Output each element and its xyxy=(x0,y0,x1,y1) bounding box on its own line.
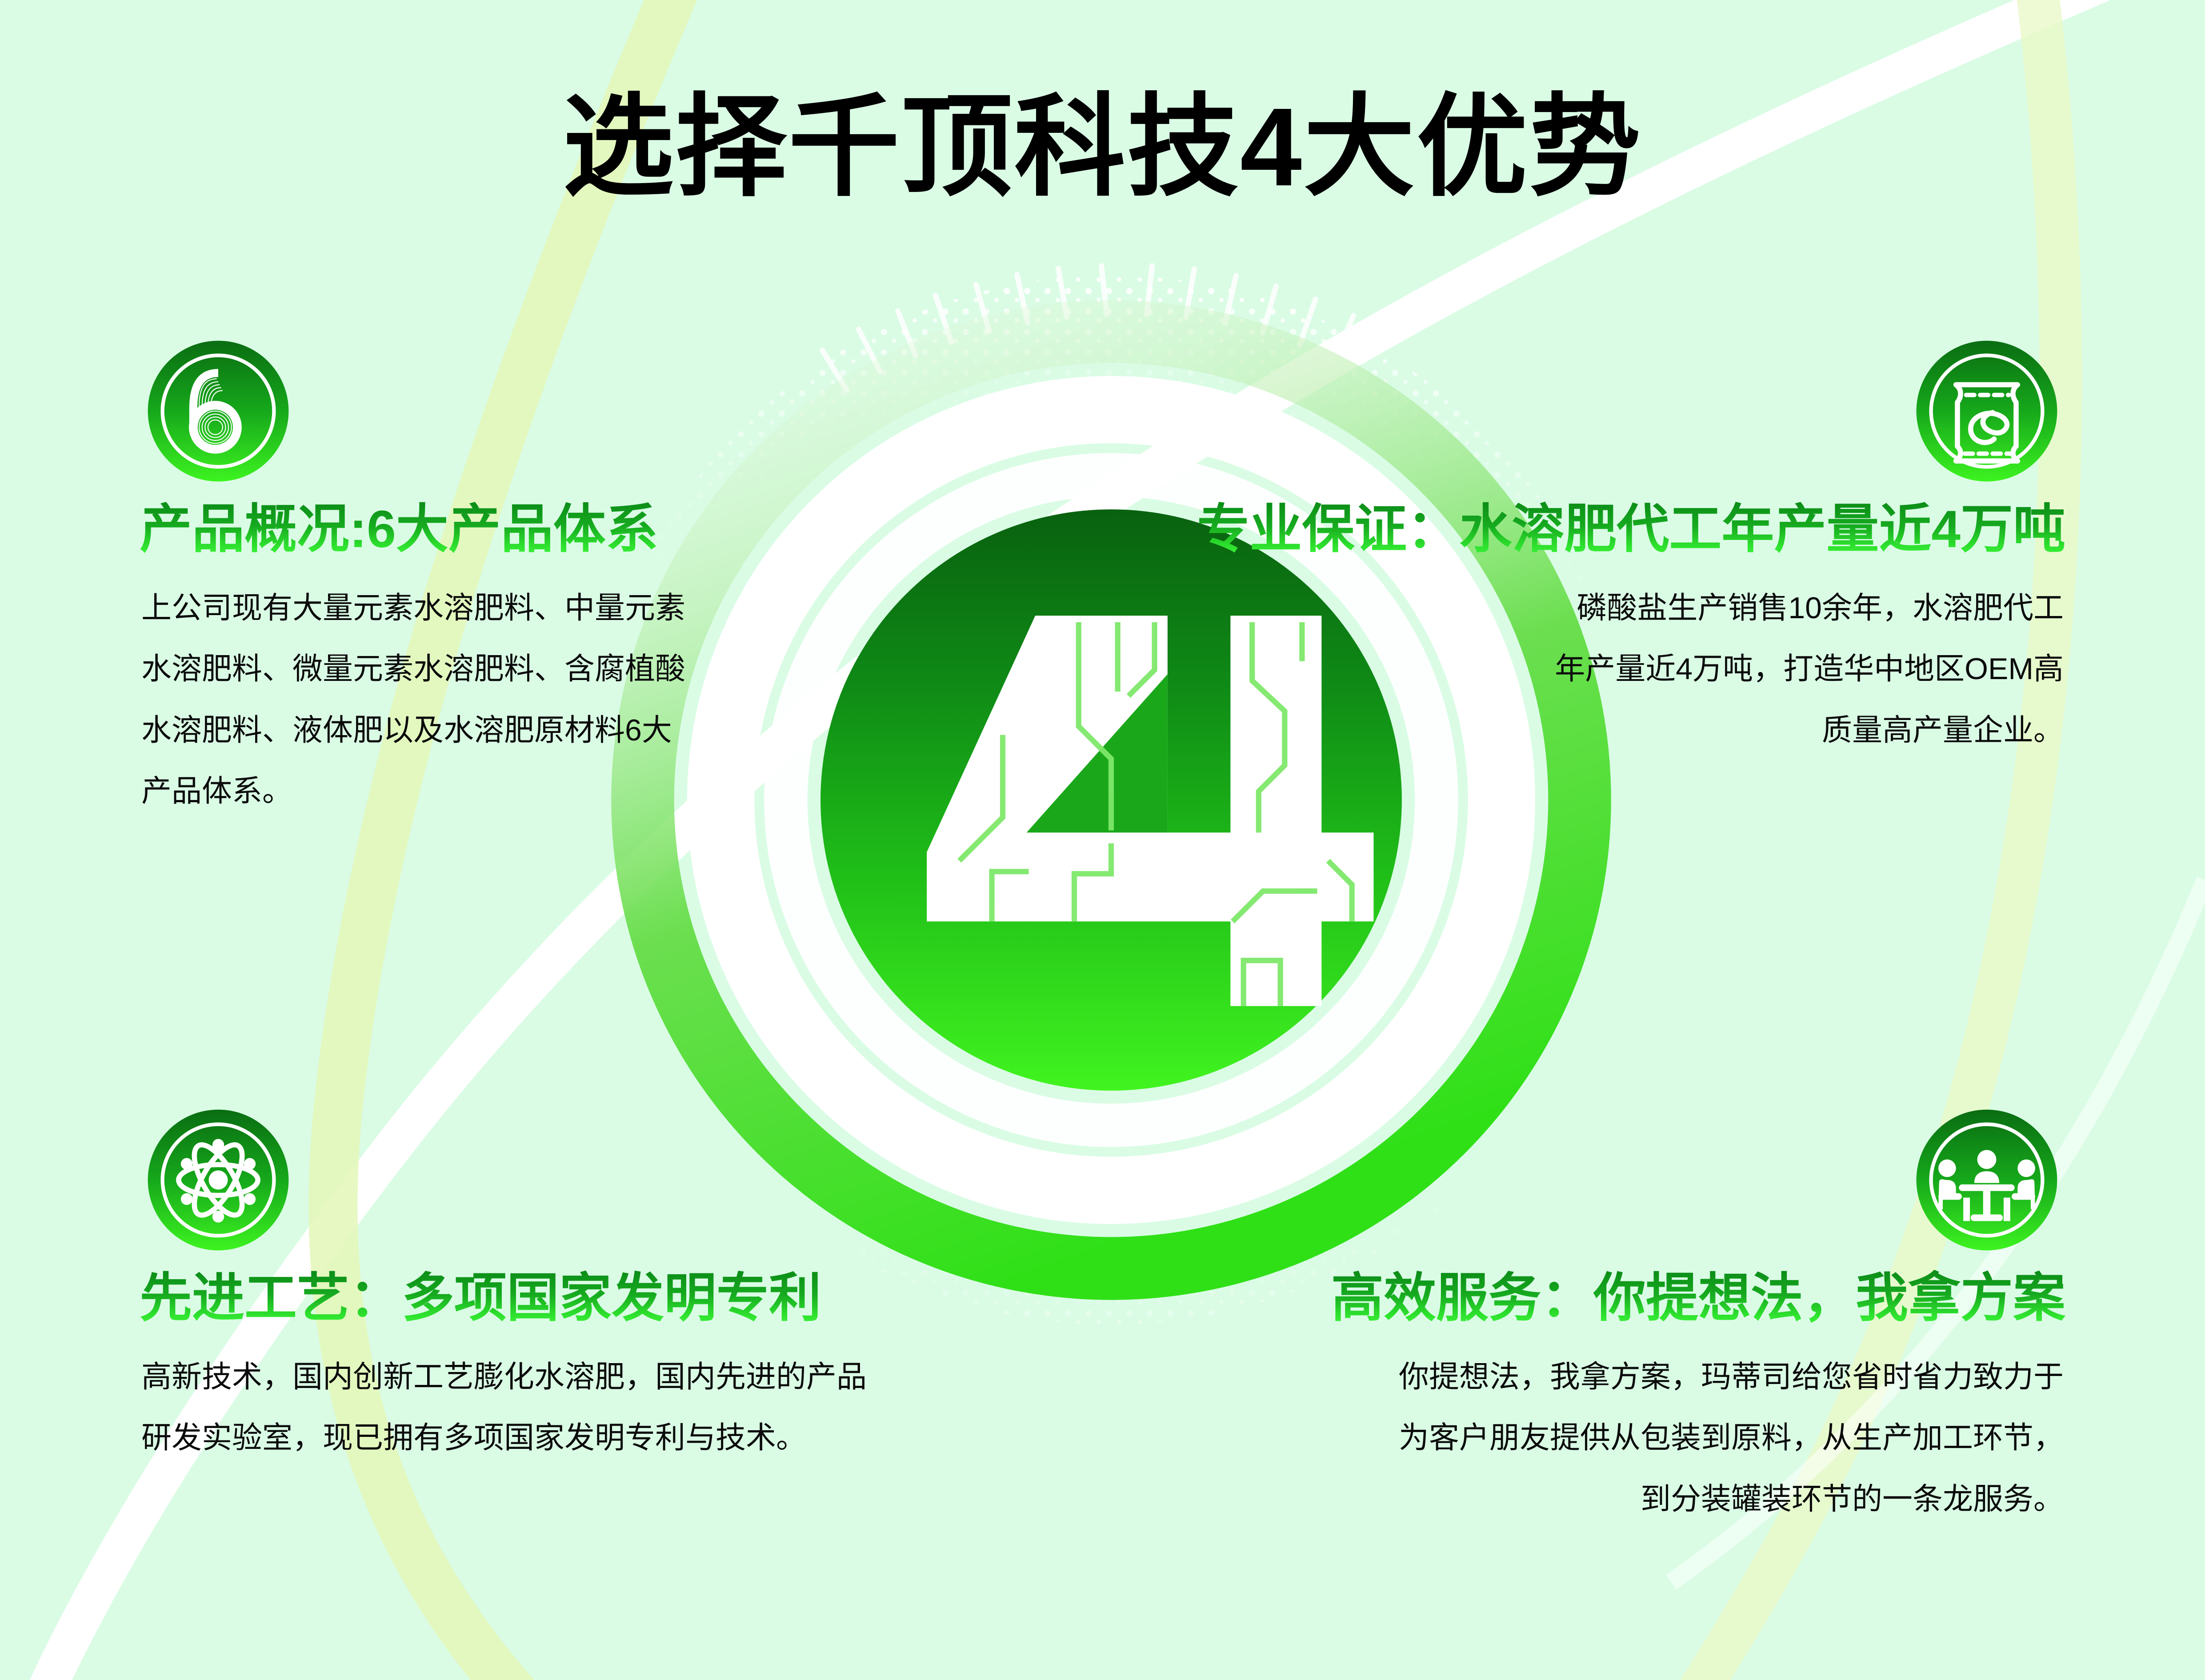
advantage-heading: 高效服务：你提想法，我拿方案 xyxy=(1331,1269,2065,1328)
center-emblem xyxy=(569,258,1653,1342)
advantage-heading: 先进工艺：多项国家发明专利 xyxy=(140,1269,821,1328)
fertilizer-bag-icon xyxy=(1913,338,2060,484)
advantage-heading: 专业保证：水溶肥代工年产量近4万吨 xyxy=(1197,500,2065,559)
advantage-body: 你提想法，我拿方案，玛蒂司给您省时省力致力于为客户朋友提供从包装到原料，从生产加… xyxy=(1379,1347,2064,1530)
infographic-poster: 选择千顶科技4大优势 xyxy=(0,0,2205,1680)
page-title: 选择千顶科技4大优势 xyxy=(0,89,2205,206)
advantage-heading: 产品概况:6大产品体系 xyxy=(140,500,658,559)
advantage-body: 磷酸盐生产销售10余年，水溶肥代工年产量近4万吨，打造华中地区OEM高质量高产量… xyxy=(1553,578,2064,761)
advantage-body: 高新技术，国内创新工艺膨化水溶肥，国内先进的产品研发实验室，现已拥有多项国家发明… xyxy=(141,1347,888,1469)
advantage-body: 上公司现有大量元素水溶肥料、中量元素水溶肥料、微量元素水溶肥料、含腐植酸水溶肥料… xyxy=(141,578,692,822)
atom-icon xyxy=(145,1107,292,1253)
number-six-icon xyxy=(145,338,292,484)
meeting-people-icon xyxy=(1913,1107,2060,1253)
